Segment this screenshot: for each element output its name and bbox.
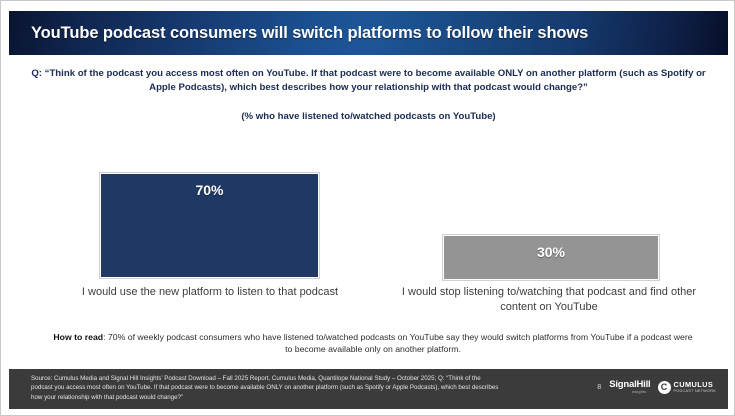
cumulus-logo-text: CUMULUS PODCAST NETWORK xyxy=(674,381,717,394)
how-to-read-label: How to read xyxy=(53,332,103,342)
cumulus-mark-letter: C xyxy=(661,383,668,392)
bar-chart: 70% 30% I would use the new platform to … xyxy=(1,141,735,326)
category-label: I would stop listening to/watching that … xyxy=(386,285,712,315)
bar-segment-secondary: 30% xyxy=(443,235,659,280)
how-to-read-note: How to read: 70% of weekly podcast consu… xyxy=(53,331,693,356)
footer-branding: 8 SignalHill insights C CUMULUS PODCAST … xyxy=(597,380,716,394)
bar-segment-primary: 70% xyxy=(100,173,319,278)
signalhill-logo: SignalHill insights xyxy=(609,380,650,394)
page-number: 8 xyxy=(597,384,601,391)
slide-footer: Source: Cumulus Media and Signal Hill In… xyxy=(9,369,728,409)
slide-canvas: YouTube podcast consumers will switch pl… xyxy=(0,0,735,416)
survey-question-text: Q: “Think of the podcast you access most… xyxy=(29,67,708,94)
how-to-read-body: : 70% of weekly podcast consumers who ha… xyxy=(103,332,692,354)
slide-title-banner: YouTube podcast consumers will switch pl… xyxy=(9,11,728,55)
signalhill-logo-tagline: insights xyxy=(632,391,647,395)
cumulus-logo-name: CUMULUS xyxy=(674,381,717,388)
signalhill-logo-name: SignalHill xyxy=(609,380,650,390)
source-citation: Source: Cumulus Media and Signal Hill In… xyxy=(31,374,501,402)
category-label: I would use the new platform to listen t… xyxy=(47,285,373,300)
cumulus-logo: C CUMULUS PODCAST NETWORK xyxy=(658,381,717,394)
bar-value-label: 30% xyxy=(537,244,565,260)
survey-question-base: (% who have listened to/watched podcasts… xyxy=(29,111,708,122)
cumulus-logo-tagline: PODCAST NETWORK xyxy=(674,390,717,394)
cumulus-circle-icon: C xyxy=(658,381,671,394)
page-title: YouTube podcast consumers will switch pl… xyxy=(31,24,588,43)
bar-value-label: 70% xyxy=(195,182,223,198)
